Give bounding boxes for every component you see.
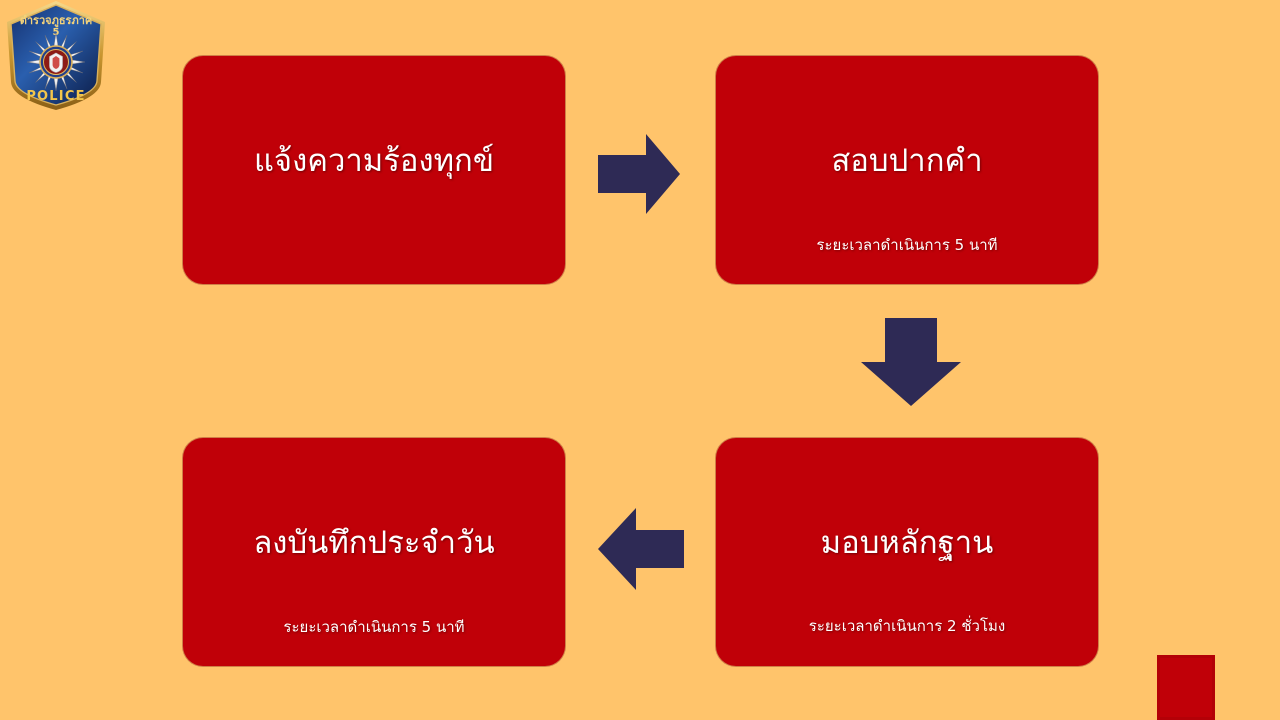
corner-accent-block [1157, 655, 1215, 720]
arrow-right-icon [598, 134, 680, 214]
arrow-left-icon [598, 508, 684, 590]
step-2-duration: ระยะเวลาดำเนินการ 5 นาที [716, 236, 1098, 256]
process-step-4[interactable]: ลงบันทึกประจำวัน ระยะเวลาดำเนินการ 5 นาท… [183, 438, 565, 666]
slide-canvas: ตำรวจภูธรภาค 5 [0, 0, 1280, 720]
process-step-1[interactable]: แจ้งความร้องทุกข์ [183, 56, 565, 284]
step-4-duration: ระยะเวลาดำเนินการ 5 นาที [183, 618, 565, 638]
svg-text:POLICE: POLICE [26, 89, 85, 104]
step-4-title: ลงบันทึกประจำวัน [183, 524, 565, 563]
police-badge-logo: ตำรวจภูธรภาค 5 [2, 0, 110, 112]
step-2-title: สอบปากคำ [716, 142, 1098, 181]
step-3-title: มอบหลักฐาน [716, 524, 1098, 563]
process-step-3[interactable]: มอบหลักฐาน ระยะเวลาดำเนินการ 2 ชั่วโมง [716, 438, 1098, 666]
step-3-duration: ระยะเวลาดำเนินการ 2 ชั่วโมง [716, 617, 1098, 637]
svg-text:ตำรวจภูธรภาค: ตำรวจภูธรภาค [20, 14, 93, 28]
step-1-title: แจ้งความร้องทุกข์ [183, 142, 565, 181]
process-step-2[interactable]: สอบปากคำ ระยะเวลาดำเนินการ 5 นาที [716, 56, 1098, 284]
arrow-down-icon [861, 318, 961, 406]
